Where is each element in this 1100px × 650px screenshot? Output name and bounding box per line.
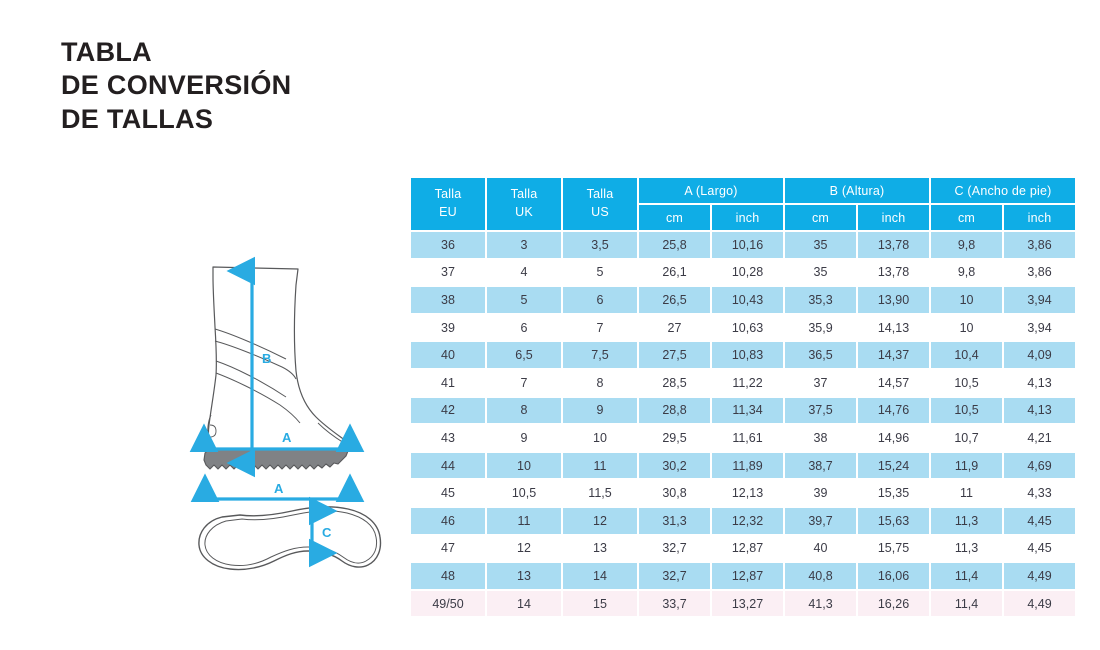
table-cell: 8 <box>563 370 637 396</box>
table-cell: 12,87 <box>712 536 783 562</box>
length-label-a-sole: A <box>274 481 284 496</box>
table-cell: 12,32 <box>712 508 783 534</box>
table-cell: 39,7 <box>785 508 856 534</box>
table-cell: 46 <box>411 508 485 534</box>
table-cell: 5 <box>487 287 561 313</box>
table-cell: 15,24 <box>858 453 929 479</box>
table-cell: 28,5 <box>639 370 710 396</box>
table-cell: 11 <box>487 508 561 534</box>
table-cell: 3,94 <box>1004 315 1075 341</box>
table-cell: 11,4 <box>931 591 1002 617</box>
col-header-group-b: B (Altura) <box>785 178 929 203</box>
table-cell: 11,89 <box>712 453 783 479</box>
table-cell: 4,33 <box>1004 480 1075 506</box>
table-cell: 11,5 <box>563 480 637 506</box>
table-cell: 10,5 <box>931 398 1002 424</box>
table-cell: 15,63 <box>858 508 929 534</box>
table-cell: 3 <box>487 232 561 258</box>
table-cell: 37,5 <box>785 398 856 424</box>
table-cell: 32,7 <box>639 563 710 589</box>
table-cell: 38,7 <box>785 453 856 479</box>
table-cell: 3,5 <box>563 232 637 258</box>
col-header-talla-uk-line1: Talla <box>511 187 538 201</box>
table-row: 417828,511,223714,5710,54,13 <box>411 370 1075 396</box>
boot-sole-bottom-view: A C <box>199 481 381 570</box>
table-cell: 5 <box>563 260 637 286</box>
table-cell: 7,5 <box>563 342 637 368</box>
table-cell: 10,28 <box>712 260 783 286</box>
table-cell: 6,5 <box>487 342 561 368</box>
col-header-talla-uk-line2: UK <box>515 205 533 219</box>
col-header-talla-us-line1: Talla <box>587 187 614 201</box>
boot-upper-outline <box>208 267 349 449</box>
table-cell: 27,5 <box>639 342 710 368</box>
col-header-talla-us: Talla US <box>563 178 637 230</box>
table-cell: 7 <box>487 370 561 396</box>
table-cell: 40 <box>785 536 856 562</box>
table-cell: 4,21 <box>1004 425 1075 451</box>
table-body: 3633,525,810,163513,789,83,86374526,110,… <box>411 232 1075 616</box>
table-cell: 35,9 <box>785 315 856 341</box>
table-cell: 10,5 <box>931 370 1002 396</box>
table-row: 3633,525,810,163513,789,83,86 <box>411 232 1075 258</box>
table-cell: 48 <box>411 563 485 589</box>
width-label-c: C <box>322 525 332 540</box>
table-cell: 14,37 <box>858 342 929 368</box>
table-row: 47121332,712,874015,7511,34,45 <box>411 536 1075 562</box>
table-cell: 15,75 <box>858 536 929 562</box>
col-header-b-inch: inch <box>858 205 929 230</box>
table-cell: 4,45 <box>1004 536 1075 562</box>
table-cell: 12 <box>563 508 637 534</box>
table-cell: 14,76 <box>858 398 929 424</box>
table-row: 385626,510,4335,313,90103,94 <box>411 287 1075 313</box>
table-cell: 35 <box>785 260 856 286</box>
table-cell: 16,06 <box>858 563 929 589</box>
col-header-talla-us-line2: US <box>591 205 609 219</box>
col-header-c-inch: inch <box>1004 205 1075 230</box>
table-cell: 35 <box>785 232 856 258</box>
table-row: 49/50141533,713,2741,316,2611,44,49 <box>411 591 1075 617</box>
table-cell: 47 <box>411 536 485 562</box>
col-header-group-c: C (Ancho de pie) <box>931 178 1075 203</box>
table-cell: 33,7 <box>639 591 710 617</box>
table-header-row-groups: Talla EU Talla UK Talla US A (Largo) B (… <box>411 178 1075 203</box>
table-cell: 11,34 <box>712 398 783 424</box>
table-cell: 14 <box>563 563 637 589</box>
table-cell: 36,5 <box>785 342 856 368</box>
table-cell: 39 <box>785 480 856 506</box>
table-cell: 49/50 <box>411 591 485 617</box>
table-cell: 38 <box>785 425 856 451</box>
table-cell: 10,16 <box>712 232 783 258</box>
table-cell: 29,5 <box>639 425 710 451</box>
table-cell: 10 <box>931 315 1002 341</box>
table-cell: 14 <box>487 591 561 617</box>
table-cell: 27 <box>639 315 710 341</box>
table-cell: 12,13 <box>712 480 783 506</box>
table-cell: 30,8 <box>639 480 710 506</box>
table-cell: 37 <box>785 370 856 396</box>
table-cell: 16,26 <box>858 591 929 617</box>
col-header-talla-uk: Talla UK <box>487 178 561 230</box>
col-header-c-cm: cm <box>931 205 1002 230</box>
table-cell: 42 <box>411 398 485 424</box>
table-cell: 10,43 <box>712 287 783 313</box>
table-cell: 3,94 <box>1004 287 1075 313</box>
table-row: 44101130,211,8938,715,2411,94,69 <box>411 453 1075 479</box>
size-conversion-table-container: Talla EU Talla UK Talla US A (Largo) B (… <box>409 176 1057 618</box>
table-cell: 40 <box>411 342 485 368</box>
table-cell: 11 <box>563 453 637 479</box>
table-cell: 45 <box>411 480 485 506</box>
table-cell: 12 <box>487 536 561 562</box>
table-cell: 41 <box>411 370 485 396</box>
table-header: Talla EU Talla UK Talla US A (Largo) B (… <box>411 178 1075 230</box>
table-cell: 10,4 <box>931 342 1002 368</box>
sole-outline-outer <box>199 507 381 570</box>
table-cell: 4,69 <box>1004 453 1075 479</box>
table-cell: 4,45 <box>1004 508 1075 534</box>
boot-measurement-illustration: B A A C <box>170 255 410 600</box>
table-cell: 11,9 <box>931 453 1002 479</box>
table-cell: 31,3 <box>639 508 710 534</box>
table-cell: 36 <box>411 232 485 258</box>
table-cell: 28,8 <box>639 398 710 424</box>
table-cell: 4,13 <box>1004 398 1075 424</box>
height-label-b: B <box>262 351 271 366</box>
table-cell: 10,7 <box>931 425 1002 451</box>
table-cell: 14,57 <box>858 370 929 396</box>
table-cell: 43 <box>411 425 485 451</box>
table-cell: 4,09 <box>1004 342 1075 368</box>
table-cell: 13,90 <box>858 287 929 313</box>
col-header-a-inch: inch <box>712 205 783 230</box>
col-header-b-cm: cm <box>785 205 856 230</box>
table-cell: 8 <box>487 398 561 424</box>
table-row: 4391029,511,613814,9610,74,21 <box>411 425 1075 451</box>
table-cell: 14,13 <box>858 315 929 341</box>
table-cell: 9,8 <box>931 260 1002 286</box>
table-cell: 32,7 <box>639 536 710 562</box>
table-cell: 12,87 <box>712 563 783 589</box>
table-cell: 37 <box>411 260 485 286</box>
table-cell: 10,5 <box>487 480 561 506</box>
table-row: 39672710,6335,914,13103,94 <box>411 315 1075 341</box>
table-row: 374526,110,283513,789,83,86 <box>411 260 1075 286</box>
size-conversion-table: Talla EU Talla UK Talla US A (Largo) B (… <box>409 176 1077 618</box>
col-header-talla-eu-line1: Talla <box>435 187 462 201</box>
page-title-line-1: TABLA <box>61 36 291 69</box>
table-cell: 13,27 <box>712 591 783 617</box>
table-cell: 11,61 <box>712 425 783 451</box>
table-cell: 10,83 <box>712 342 783 368</box>
table-cell: 15,35 <box>858 480 929 506</box>
table-cell: 38 <box>411 287 485 313</box>
table-cell: 40,8 <box>785 563 856 589</box>
table-cell: 14,96 <box>858 425 929 451</box>
table-cell: 9,8 <box>931 232 1002 258</box>
table-cell: 13 <box>487 563 561 589</box>
table-cell: 11,4 <box>931 563 1002 589</box>
col-header-group-a: A (Largo) <box>639 178 783 203</box>
table-row: 46111231,312,3239,715,6311,34,45 <box>411 508 1075 534</box>
length-label-a-side: A <box>282 430 292 445</box>
table-cell: 41,3 <box>785 591 856 617</box>
boot-side-view: B A <box>204 267 350 469</box>
table-cell: 6 <box>487 315 561 341</box>
col-header-talla-eu: Talla EU <box>411 178 485 230</box>
table-cell: 10 <box>487 453 561 479</box>
page-title: TABLA DE CONVERSIÓN DE TALLAS <box>61 36 291 136</box>
table-cell: 44 <box>411 453 485 479</box>
table-cell: 4,49 <box>1004 563 1075 589</box>
table-cell: 4,13 <box>1004 370 1075 396</box>
table-cell: 11,3 <box>931 536 1002 562</box>
table-cell: 7 <box>563 315 637 341</box>
table-cell: 26,1 <box>639 260 710 286</box>
table-row: 406,57,527,510,8336,514,3710,44,09 <box>411 342 1075 368</box>
table-cell: 30,2 <box>639 453 710 479</box>
table-cell: 10 <box>931 287 1002 313</box>
table-cell: 3,86 <box>1004 232 1075 258</box>
table-cell: 10 <box>563 425 637 451</box>
table-row: 48131432,712,8740,816,0611,44,49 <box>411 563 1075 589</box>
col-header-a-cm: cm <box>639 205 710 230</box>
table-row: 428928,811,3437,514,7610,54,13 <box>411 398 1075 424</box>
table-cell: 11 <box>931 480 1002 506</box>
table-cell: 26,5 <box>639 287 710 313</box>
table-cell: 13,78 <box>858 232 929 258</box>
table-cell: 11,3 <box>931 508 1002 534</box>
table-cell: 4 <box>487 260 561 286</box>
table-cell: 3,86 <box>1004 260 1075 286</box>
table-cell: 11,22 <box>712 370 783 396</box>
page-title-line-3: DE TALLAS <box>61 103 291 136</box>
table-cell: 13 <box>563 536 637 562</box>
table-cell: 39 <box>411 315 485 341</box>
page-title-line-2: DE CONVERSIÓN <box>61 69 291 102</box>
table-cell: 9 <box>487 425 561 451</box>
table-cell: 10,63 <box>712 315 783 341</box>
table-cell: 9 <box>563 398 637 424</box>
table-row: 4510,511,530,812,133915,35114,33 <box>411 480 1075 506</box>
table-cell: 25,8 <box>639 232 710 258</box>
table-cell: 15 <box>563 591 637 617</box>
table-cell: 6 <box>563 287 637 313</box>
col-header-talla-eu-line2: EU <box>439 205 457 219</box>
table-cell: 13,78 <box>858 260 929 286</box>
table-cell: 4,49 <box>1004 591 1075 617</box>
table-cell: 35,3 <box>785 287 856 313</box>
